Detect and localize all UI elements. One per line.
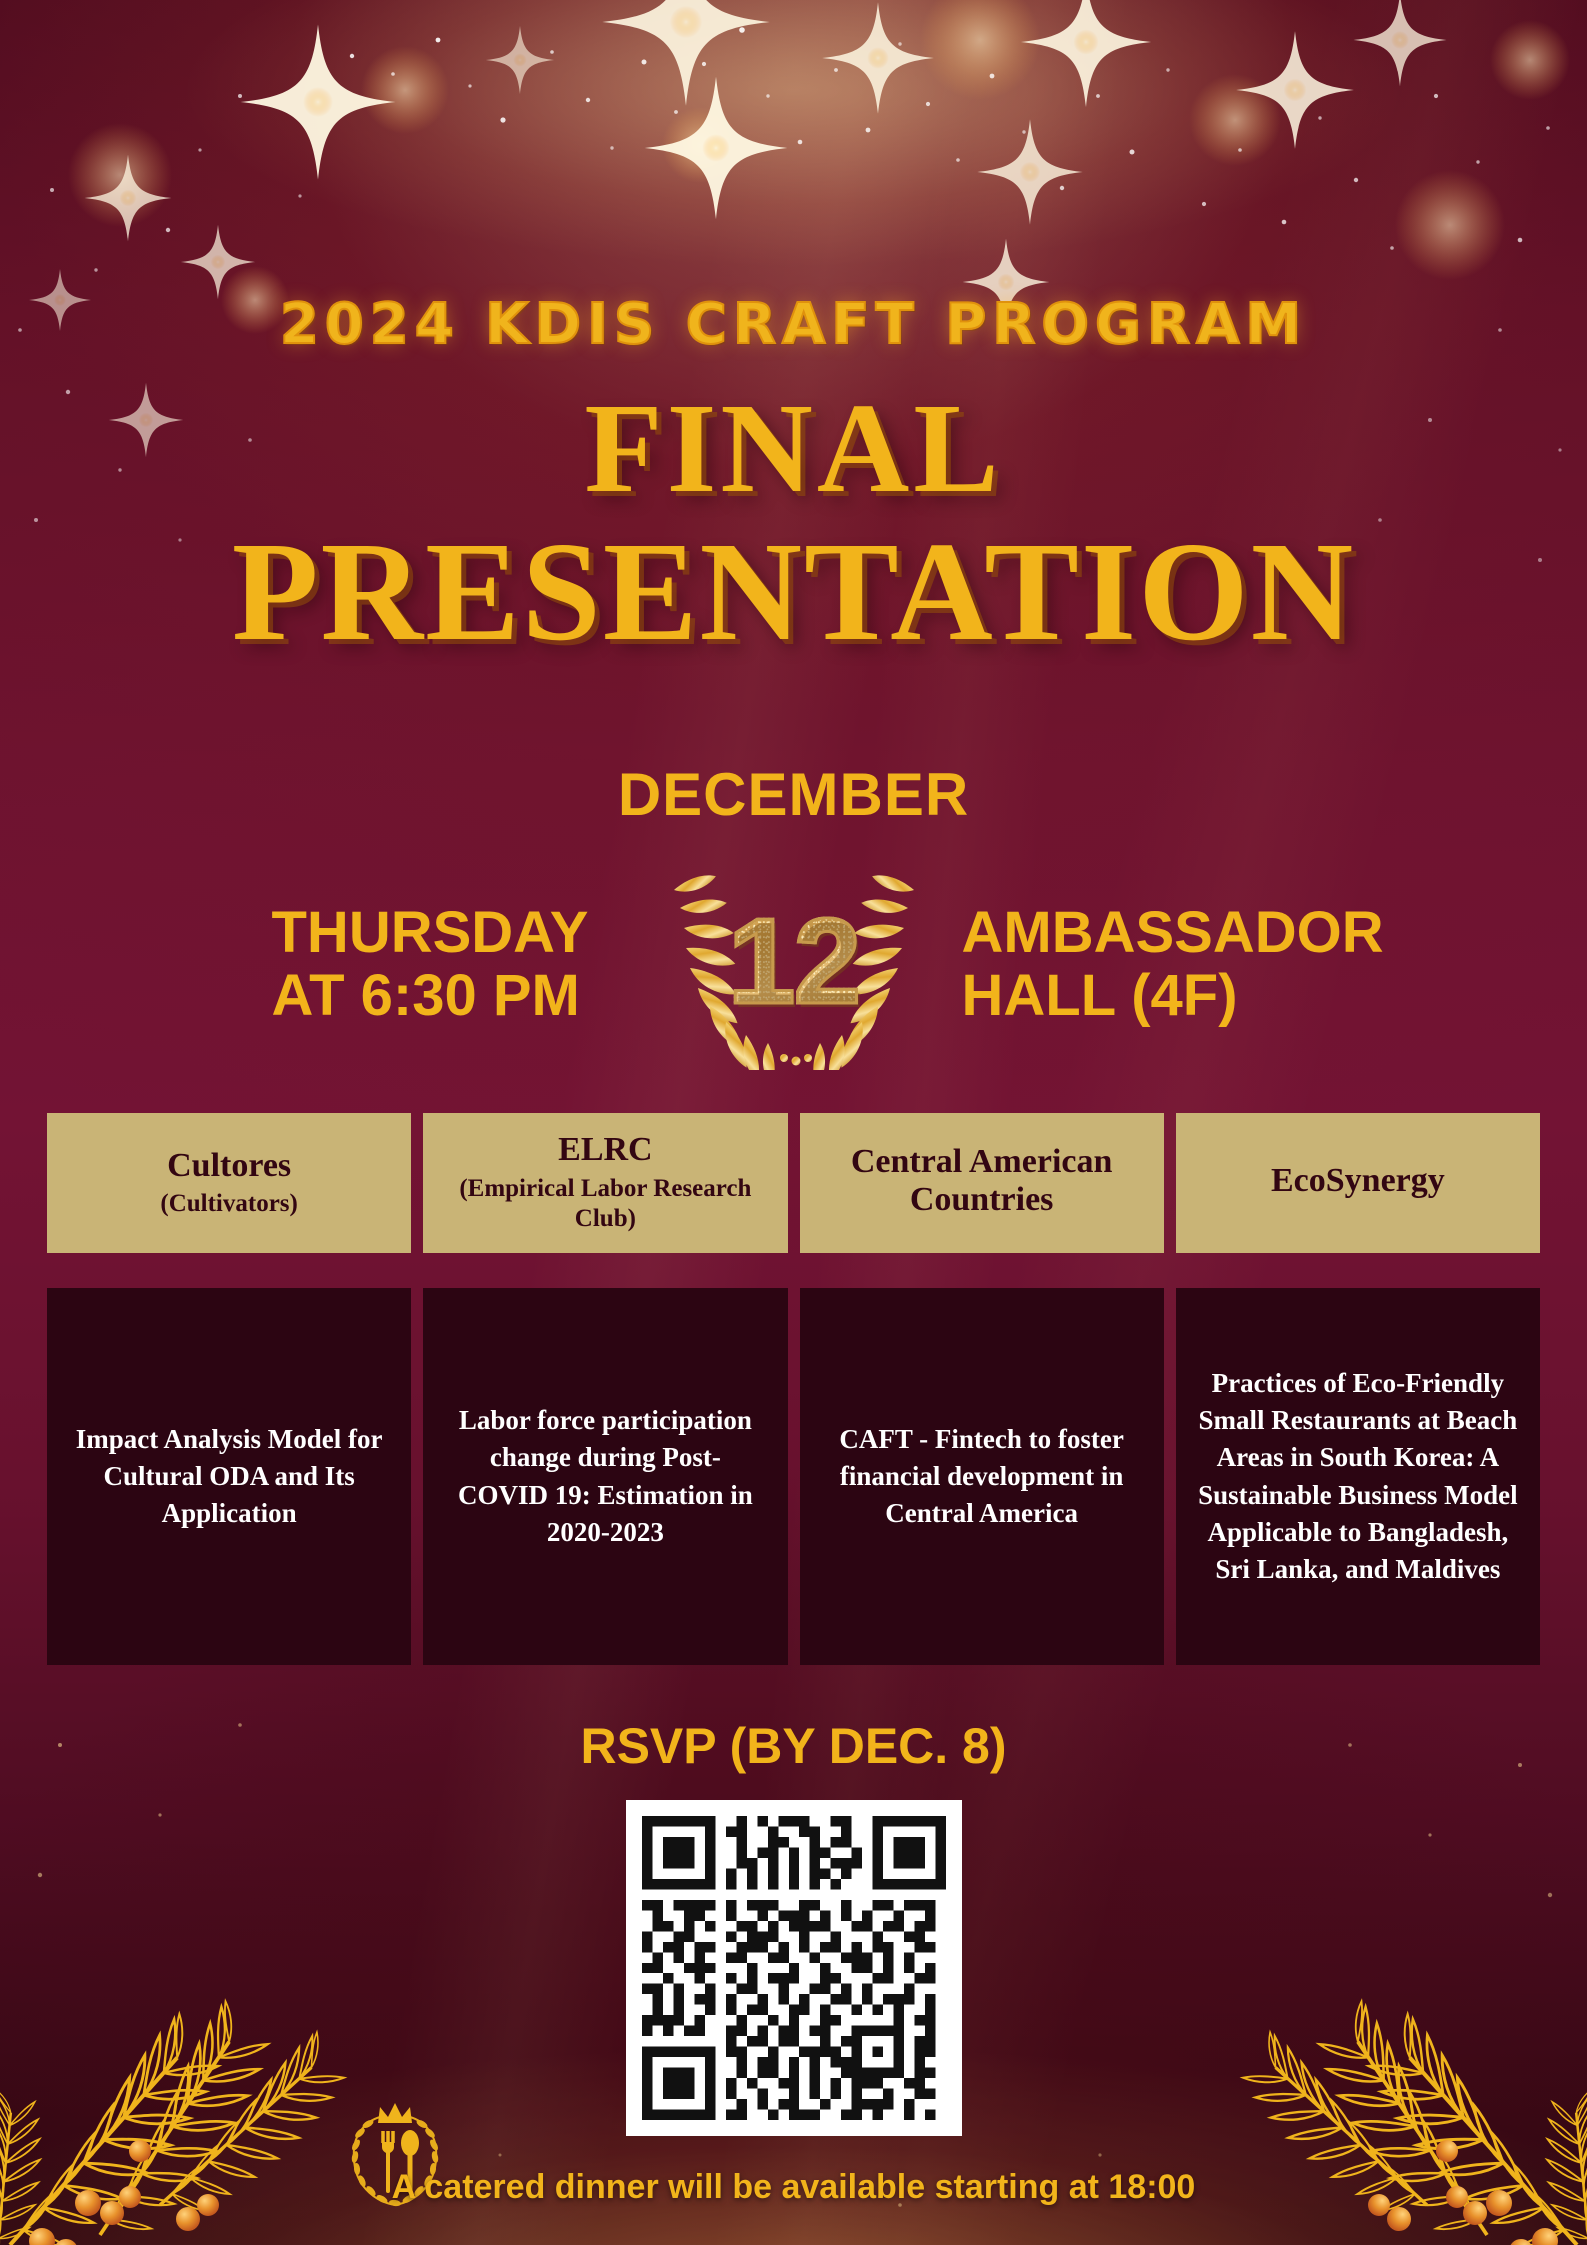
rsvp-qr-code[interactable] [626,1800,962,2136]
program-title: 2024 KDIS CRAFT PROGRAM [0,292,1587,357]
venue-line-2: HALL (4F) [962,965,1374,1028]
team-name: ELRC [558,1131,652,1169]
team-name: Cultores [167,1147,291,1185]
day-number: 12 [728,891,860,1031]
page-title-line2: PRESENTATION [0,524,1587,659]
footer-note: A catered dinner will be available start… [0,2168,1587,2207]
top-glow [0,0,1587,300]
event-when: THURSDAY AT 6:30 PM [214,902,644,1027]
event-month: DECEMBER [0,760,1587,829]
team-header-card: Central American Countries [800,1113,1164,1253]
event-time: AT 6:30 PM [272,965,644,1028]
team-header-grid: Cultores (Cultivators) ELRC (Empirical L… [47,1113,1540,1253]
team-header-card: Cultores (Cultivators) [47,1113,411,1253]
team-project-card: CAFT - Fintech to foster financial devel… [800,1288,1164,1665]
team-header-card: EcoSynergy [1176,1113,1540,1253]
team-header-card: ELRC (Empirical Labor Research Club) [423,1113,787,1253]
venue-line-1: AMBASSADOR [962,902,1374,965]
team-name: Central American Countries [812,1143,1152,1219]
event-details-row: THURSDAY AT 6:30 PM [0,860,1587,1070]
team-subtitle: (Empirical Labor Research Club) [435,1174,775,1235]
team-project-grid: Impact Analysis Model for Cultural ODA a… [47,1288,1540,1665]
event-venue: AMBASSADOR HALL (4F) [944,902,1374,1027]
team-project-card: Labor force participation change during … [423,1288,787,1665]
event-weekday: THURSDAY [272,902,644,965]
team-project-card: Practices of Eco-Friendly Small Restaura… [1176,1288,1540,1665]
team-project-card: Impact Analysis Model for Cultural ODA a… [47,1288,411,1665]
team-name: EcoSynergy [1271,1162,1445,1200]
poster-canvas: 2024 KDIS CRAFT PROGRAM FINAL PRESENTATI… [0,0,1587,2245]
rsvp-heading: RSVP (BY DEC. 8) [0,1717,1587,1775]
team-subtitle: (Cultivators) [160,1189,297,1220]
day-badge: 12 [644,860,944,1070]
qr-code-icon[interactable] [642,1816,946,2120]
page-title-line1: FINAL [0,388,1587,510]
